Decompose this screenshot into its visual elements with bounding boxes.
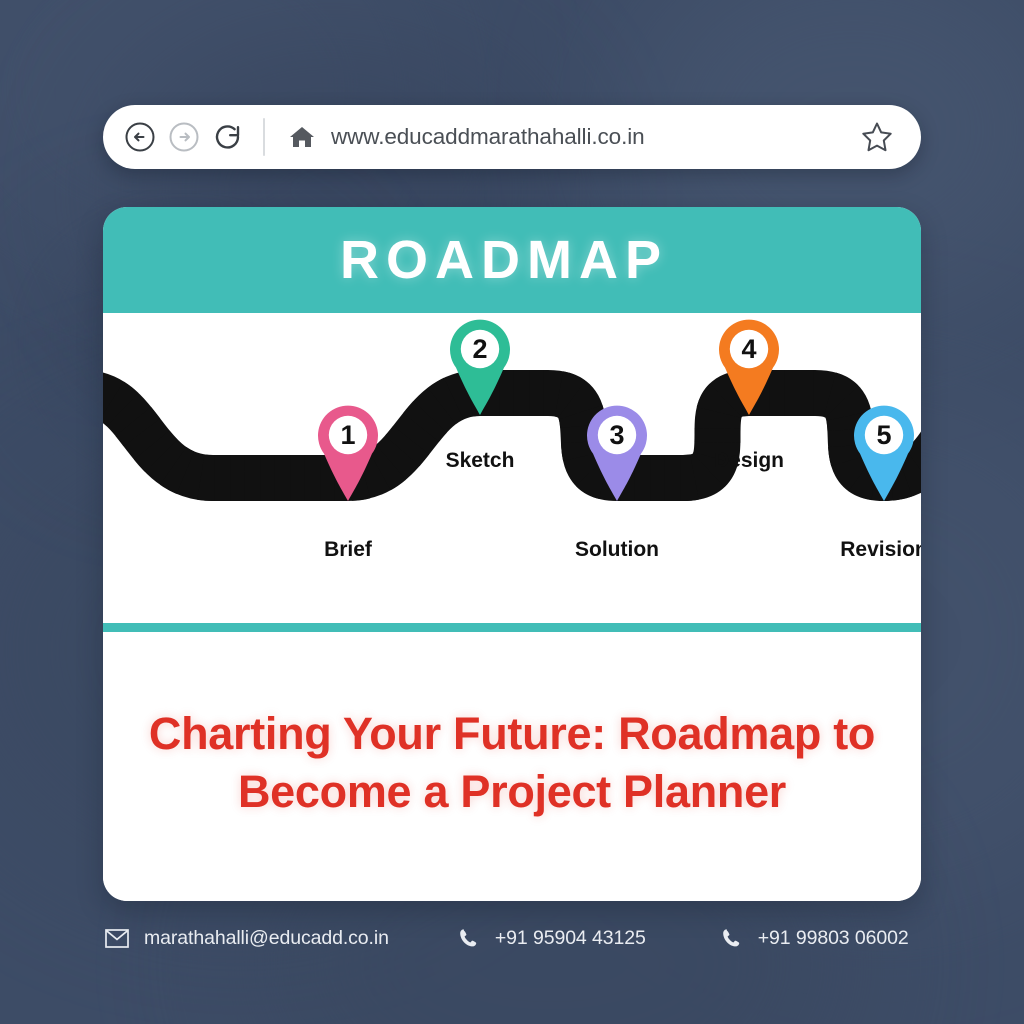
roadmap-graphic: 12345 BriefSketchSolutionDesignRevision xyxy=(103,313,921,623)
headline-block: Charting Your Future: Roadmap to Become … xyxy=(103,632,921,901)
roadmap-step-label-2: Sketch xyxy=(446,449,515,472)
roadmap-step-label-5: Revision xyxy=(840,538,921,561)
url-text[interactable]: www.educaddmarathahalli.co.in xyxy=(331,124,645,150)
roadmap-step-label-4: Design xyxy=(714,449,784,472)
headline-text: Charting Your Future: Roadmap to Become … xyxy=(137,705,887,820)
roadmap-pin-number-2: 2 xyxy=(472,334,487,364)
toolbar-divider xyxy=(263,118,265,156)
roadmap-step-label-3: Solution xyxy=(575,538,659,561)
forward-button[interactable] xyxy=(167,120,201,154)
section-divider xyxy=(103,623,921,632)
roadmap-pin-number-4: 4 xyxy=(741,334,756,364)
card-header: ROADMAP xyxy=(103,207,921,313)
mail-icon xyxy=(104,925,130,951)
page-title: ROADMAP xyxy=(340,229,668,291)
contact-email[interactable]: marathahalli@educadd.co.in xyxy=(104,925,389,951)
roadmap-pin-number-3: 3 xyxy=(609,420,624,450)
contact-phone-2[interactable]: +91 99803 06002 xyxy=(718,925,909,951)
roadmap-step-label-1: Brief xyxy=(324,538,373,561)
contact-phone-1[interactable]: +91 95904 43125 xyxy=(455,925,646,951)
arrow-left-circle-icon xyxy=(124,121,156,153)
arrow-right-circle-icon xyxy=(168,121,200,153)
contact-email-text: marathahalli@educadd.co.in xyxy=(144,927,389,950)
home-button[interactable] xyxy=(287,122,317,152)
roadmap-pin-number-1: 1 xyxy=(340,420,355,450)
browser-nav-buttons xyxy=(103,120,245,154)
roadmap-pin-number-5: 5 xyxy=(876,420,891,450)
footer-contacts: marathahalli@educadd.co.in +91 95904 431… xyxy=(0,925,1024,951)
phone-icon xyxy=(455,925,481,951)
back-button[interactable] xyxy=(123,120,157,154)
page-root: www.educaddmarathahalli.co.in ROADMAP 12… xyxy=(0,0,1024,1024)
roadmap-svg: 12345 BriefSketchSolutionDesignRevision xyxy=(103,313,921,623)
bookmark-button[interactable] xyxy=(859,119,895,155)
phone-icon xyxy=(718,925,744,951)
contact-phone-2-text: +91 99803 06002 xyxy=(758,927,909,950)
star-icon xyxy=(860,120,894,154)
browser-address-bar: www.educaddmarathahalli.co.in xyxy=(103,105,921,169)
home-icon xyxy=(288,123,316,151)
reload-icon xyxy=(212,121,244,153)
reload-button[interactable] xyxy=(211,120,245,154)
contact-phone-1-text: +91 95904 43125 xyxy=(495,927,646,950)
roadmap-card: ROADMAP 12345 BriefSketchSolutionDesignR… xyxy=(103,207,921,901)
